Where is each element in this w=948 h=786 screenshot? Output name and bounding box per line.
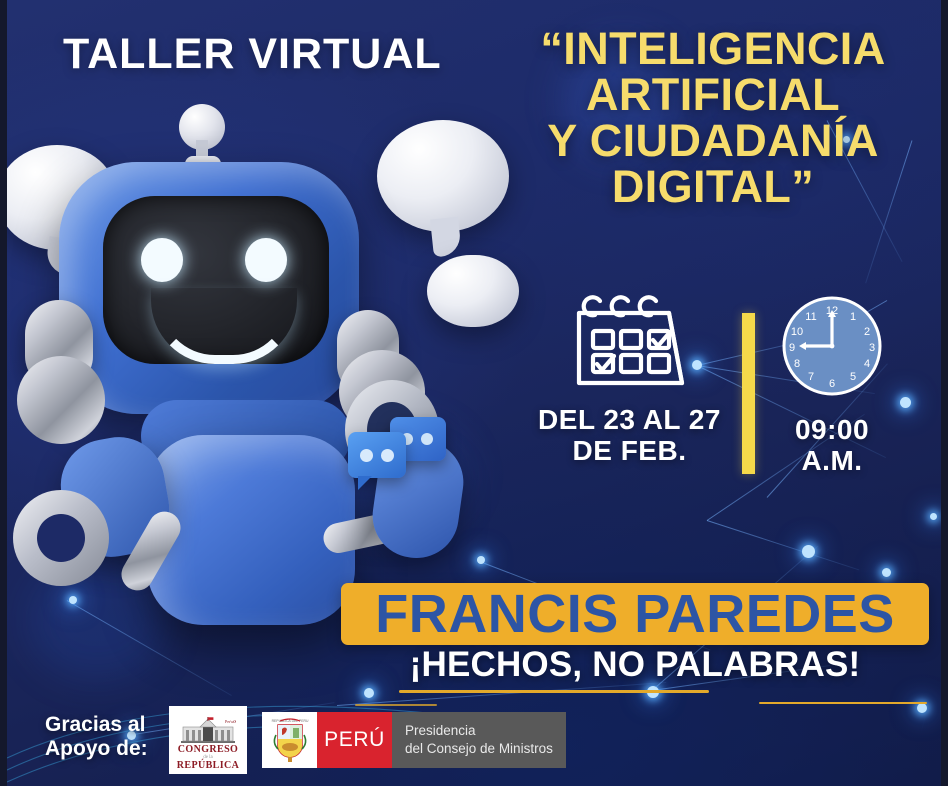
speaker-name: FRANCIS PAREDES bbox=[375, 587, 895, 641]
gold-underline-tiny bbox=[355, 704, 437, 706]
network-node bbox=[802, 545, 815, 558]
event-date-block: DEL 23 AL 27 DE FEB. bbox=[522, 295, 737, 467]
robot-smiling-face-icon bbox=[103, 196, 329, 364]
event-date-text: DEL 23 AL 27 DE FEB. bbox=[522, 405, 737, 467]
speech-bubble-icon bbox=[427, 255, 519, 327]
network-node bbox=[930, 513, 937, 520]
robot-mouth bbox=[151, 288, 297, 364]
thanks-line-1: Gracias al bbox=[45, 713, 148, 737]
pcm-line-1: Presidencia bbox=[405, 722, 553, 740]
network-edge bbox=[337, 682, 666, 706]
thanks-label: Gracias al Apoyo de: bbox=[45, 713, 148, 761]
date-line-1: DEL 23 AL 27 bbox=[538, 404, 721, 435]
robot-eye-left bbox=[141, 238, 183, 282]
network-node bbox=[882, 568, 891, 577]
congreso-line-3: REPÚBLICA bbox=[177, 760, 240, 771]
robot-character bbox=[7, 100, 477, 660]
pcm-entity-name: Presidencia del Consejo de Ministros bbox=[392, 712, 566, 768]
speaker-name-banner: FRANCIS PAREDES bbox=[341, 583, 929, 645]
speech-bubble-tail bbox=[430, 217, 462, 258]
robot-eye-right bbox=[245, 238, 287, 282]
svg-text:7: 7 bbox=[808, 371, 814, 383]
network-node bbox=[900, 397, 911, 408]
svg-text:11: 11 bbox=[805, 311, 816, 323]
event-time-block: 1212 345 678 91011 09:00 A.M. bbox=[767, 292, 897, 477]
network-node bbox=[364, 688, 374, 698]
network-node bbox=[917, 703, 927, 713]
gold-underline-short bbox=[759, 702, 927, 704]
title-line-3: Y CIUDADANÍA bbox=[487, 118, 939, 164]
network-node bbox=[477, 556, 485, 564]
analog-clock-icon: 1212 345 678 91011 bbox=[778, 292, 886, 400]
svg-text:1: 1 bbox=[850, 311, 856, 323]
svg-text:Per\u00fa: Per\u00fa bbox=[225, 719, 236, 724]
peru-coat-of-arms-icon: REPUBLICA DEL PERU bbox=[262, 712, 317, 768]
svg-text:4: 4 bbox=[864, 358, 870, 370]
svg-text:10: 10 bbox=[791, 326, 803, 338]
date-line-2: DE FEB. bbox=[522, 436, 737, 467]
time-line-1: 09:00 bbox=[795, 414, 869, 445]
time-line-2: A.M. bbox=[767, 446, 897, 477]
title-line-4: DIGITAL” bbox=[487, 164, 939, 210]
title-line-2: ARTIFICIAL bbox=[487, 72, 939, 118]
robot-shoulder-left bbox=[17, 356, 105, 444]
svg-text:8: 8 bbox=[794, 358, 800, 370]
svg-text:3: 3 bbox=[869, 342, 875, 354]
congreso-logo[interactable]: Per\u00fa CONGRESO de la REPÚBLICA bbox=[169, 706, 247, 774]
speaker-slogan: ¡HECHOS, NO PALABRAS! bbox=[341, 645, 929, 685]
title-line-1: “INTELIGENCIA bbox=[487, 26, 939, 72]
gold-underline-long bbox=[399, 690, 709, 693]
svg-text:5: 5 bbox=[850, 371, 856, 383]
pcm-country-label: PERÚ bbox=[317, 712, 392, 768]
congress-building-icon: Per\u00fa bbox=[180, 717, 236, 743]
calendar-check-icon bbox=[565, 295, 695, 390]
chat-bubble-secondary-icon bbox=[348, 432, 406, 478]
poster-canvas: TALLER VIRTUAL “INTELIGENCIA ARTIFICIAL … bbox=[0, 0, 948, 786]
svg-text:6: 6 bbox=[829, 378, 835, 390]
network-edge bbox=[707, 520, 859, 570]
svg-text:2: 2 bbox=[864, 326, 870, 338]
congreso-line-1: CONGRESO bbox=[178, 744, 238, 755]
thanks-line-2: Apoyo de: bbox=[45, 737, 148, 761]
pcm-line-2: del Consejo de Ministros bbox=[405, 740, 553, 758]
page-eyebrow: TALLER VIRTUAL bbox=[63, 30, 442, 79]
pcm-logo[interactable]: REPUBLICA DEL PERU PERÚ Presidencia del … bbox=[262, 712, 566, 768]
event-time-text: 09:00 A.M. bbox=[767, 415, 897, 477]
svg-text:9: 9 bbox=[789, 342, 795, 354]
vertical-divider bbox=[742, 313, 755, 474]
robot-claw-left bbox=[13, 490, 109, 586]
page-title: “INTELIGENCIA ARTIFICIAL Y CIUDADANÍA DI… bbox=[487, 26, 939, 210]
